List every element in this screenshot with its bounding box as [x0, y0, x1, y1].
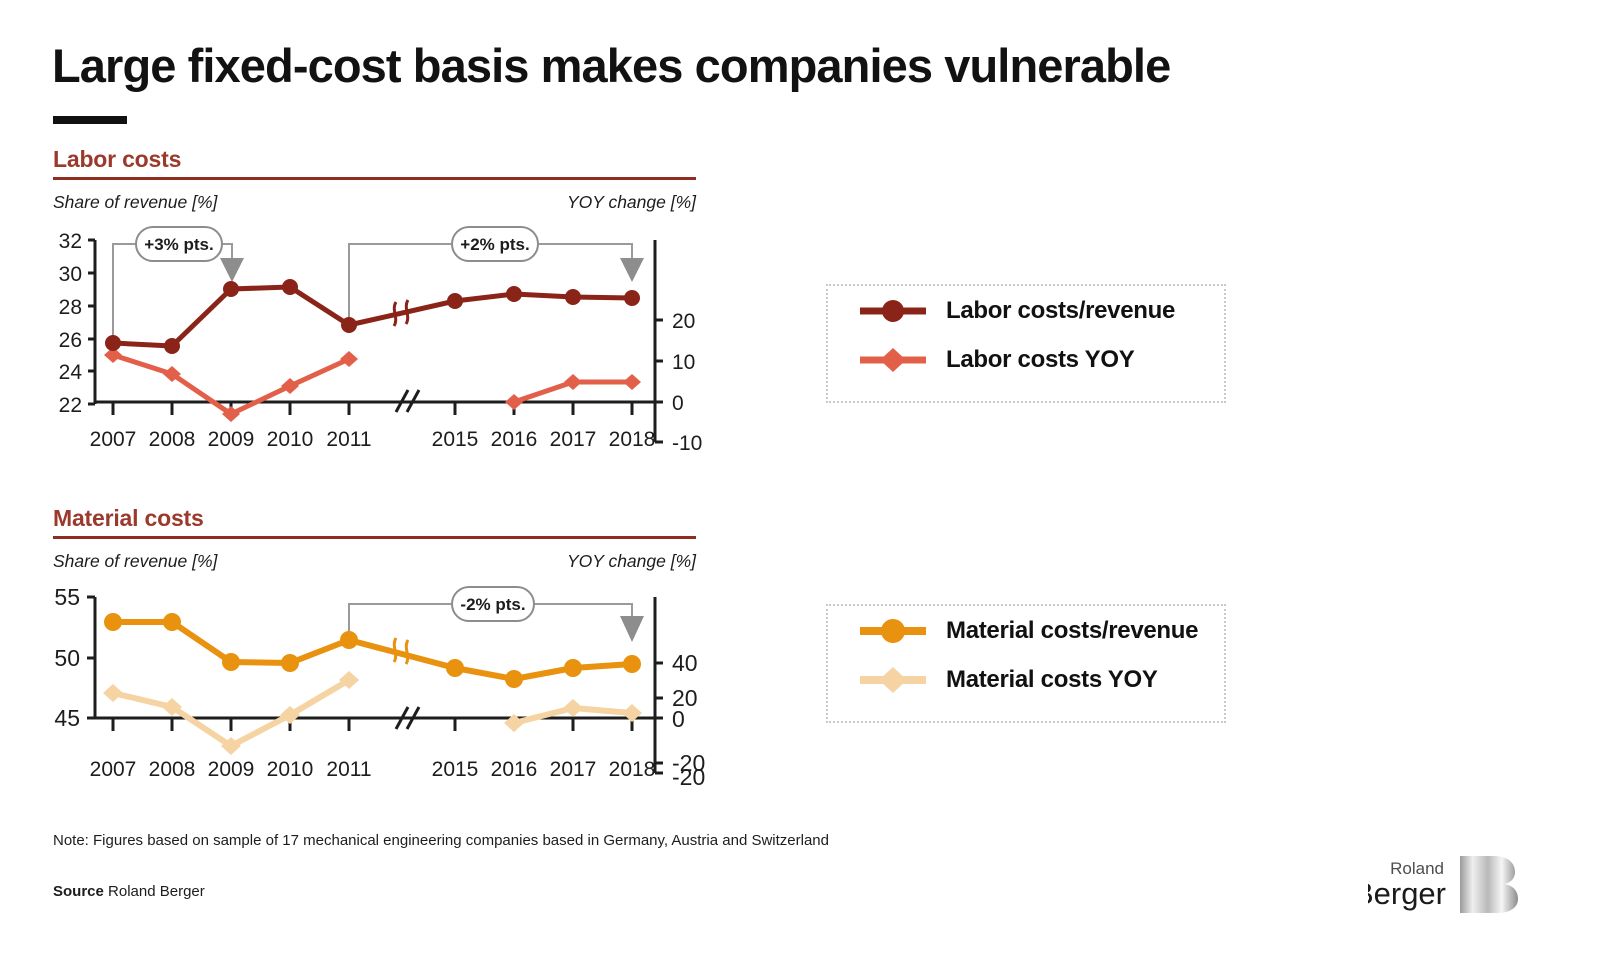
svg-text:50: 50: [54, 645, 80, 671]
source-label: Source: [53, 883, 104, 900]
legend-item-labor-yoy[interactable]: Labor costs YOY: [828, 335, 1224, 384]
right-axis-caption-material: YOY change [%]: [396, 551, 696, 572]
svg-text:2009: 2009: [208, 758, 255, 781]
legend-marker-circle-material: [856, 618, 930, 644]
svg-text:2011: 2011: [326, 428, 371, 451]
svg-text:-2% pts.: -2% pts.: [460, 595, 525, 614]
svg-text:-20: -20: [672, 764, 705, 790]
svg-text:2015: 2015: [432, 758, 479, 781]
svg-text:2016: 2016: [491, 428, 538, 451]
series-material-costs-yoy: [103, 671, 642, 755]
series-labor-costs-revenue: [105, 279, 640, 354]
panel-heading-labor: Labor costs: [53, 146, 181, 173]
svg-text:2015: 2015: [432, 428, 479, 451]
legend-label-labor-revenue: Labor costs/revenue: [946, 297, 1175, 325]
svg-text:26: 26: [59, 329, 82, 352]
legend-labor: Labor costs/revenue Labor costs YOY: [826, 284, 1226, 403]
legend-label-material-yoy: Material costs YOY: [946, 666, 1158, 694]
right-axis-caption-labor: YOY change [%]: [396, 192, 696, 213]
left-axis-labor: 32 30 28 26 24 22: [59, 230, 95, 417]
slide: Large fixed-cost basis makes companies v…: [0, 0, 1600, 967]
series-labor-costs-yoy: [104, 347, 641, 422]
svg-text:2007: 2007: [90, 428, 137, 451]
svg-text:28: 28: [59, 296, 82, 319]
legend-label-labor-yoy: Labor costs YOY: [946, 346, 1134, 374]
logo-line2: Berger: [1368, 876, 1446, 911]
svg-text:0: 0: [672, 392, 684, 415]
left-axis-caption-material: Share of revenue [%]: [53, 551, 217, 572]
svg-text:2010: 2010: [267, 428, 314, 451]
chart-material-costs: 55 50 45: [0, 580, 760, 810]
svg-text:24: 24: [59, 361, 83, 384]
svg-text:2008: 2008: [149, 428, 196, 451]
chart-labor-costs: 32 30 28 26 24 22: [0, 222, 760, 472]
svg-text:2017: 2017: [550, 758, 597, 781]
title-underline: [53, 116, 127, 124]
svg-text:-10: -10: [672, 432, 702, 455]
left-axis-material: 55 50 45: [54, 584, 95, 731]
svg-text:32: 32: [59, 230, 82, 253]
panel-rule-material: [53, 536, 696, 539]
source-value: Roland Berger: [108, 883, 205, 900]
svg-text:2009: 2009: [208, 428, 255, 451]
footnote-note: Note: Figures based on sample of 17 mech…: [53, 832, 829, 849]
svg-text:2016: 2016: [491, 758, 538, 781]
svg-text:22: 22: [59, 394, 82, 417]
page-title: Large fixed-cost basis makes companies v…: [52, 38, 1170, 93]
svg-text:2007: 2007: [90, 758, 137, 781]
svg-text:2010: 2010: [267, 758, 314, 781]
svg-text:2018: 2018: [609, 428, 656, 451]
panel-heading-material: Material costs: [53, 505, 204, 532]
svg-text:2017: 2017: [550, 428, 597, 451]
legend-item-material-revenue[interactable]: Material costs/revenue: [828, 606, 1224, 655]
right-axis-labor: 20 10 0 -10: [655, 240, 702, 455]
svg-text:40: 40: [672, 650, 698, 676]
legend-item-material-yoy[interactable]: Material costs YOY: [828, 655, 1224, 704]
svg-text:0: 0: [672, 706, 685, 732]
svg-text:10: 10: [672, 351, 695, 374]
legend-label-material-revenue: Material costs/revenue: [946, 617, 1198, 645]
svg-text:+2% pts.: +2% pts.: [460, 235, 529, 254]
series-material-costs-revenue: [104, 613, 641, 688]
right-axis-material: 40 20 0 -20 -20: [655, 597, 705, 790]
left-axis-caption-labor: Share of revenue [%]: [53, 192, 217, 213]
legend-marker-diamond-material: [856, 667, 930, 693]
annotation-material-1: -2% pts.: [349, 587, 644, 642]
footnote-source: Source Roland Berger: [53, 883, 205, 900]
svg-text:+3% pts.: +3% pts.: [144, 235, 213, 254]
svg-text:2011: 2011: [326, 758, 371, 781]
svg-text:20: 20: [672, 310, 695, 333]
roland-berger-logo: Roland Berger: [1368, 852, 1538, 914]
svg-text:2008: 2008: [149, 758, 196, 781]
svg-text:55: 55: [54, 584, 80, 610]
panel-rule-labor: [53, 177, 696, 180]
legend-marker-diamond-labor: [856, 347, 930, 373]
legend-material: Material costs/revenue Material costs YO…: [826, 604, 1226, 723]
svg-text:2018: 2018: [609, 758, 656, 781]
svg-text:30: 30: [59, 263, 82, 286]
logo-b-mark: [1460, 856, 1518, 913]
legend-item-labor-revenue[interactable]: Labor costs/revenue: [828, 286, 1224, 335]
legend-marker-circle-labor: [856, 298, 930, 324]
x-axis-labor: 2007 2008 2009 2010 2011 2015 2016 2017 …: [90, 390, 656, 451]
x-axis-material: 2007 2008 2009 2010 2011 2015 2016 2017 …: [90, 707, 656, 781]
svg-text:45: 45: [54, 705, 80, 731]
